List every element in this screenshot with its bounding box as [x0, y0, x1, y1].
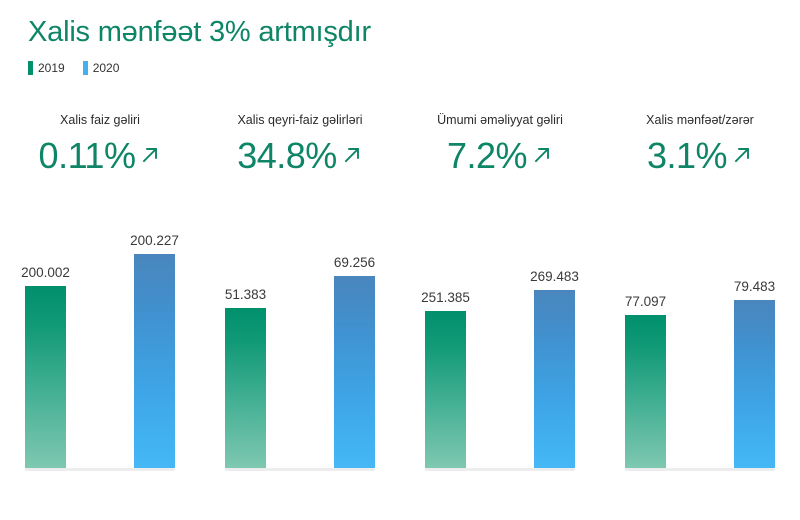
metric-label: Xalis qeyri-faiz gəlirləri: [200, 112, 400, 128]
chart-legend: 2019 2020: [28, 61, 371, 75]
bar-chart: 200.002 200.227 51.383 69.256: [0, 228, 800, 493]
bar-column-2019[interactable]: 251.385: [425, 228, 466, 468]
bar-2019[interactable]: [225, 308, 266, 468]
legend-item-2019[interactable]: 2019: [28, 61, 65, 75]
metric-value-row: 3.1%: [600, 134, 800, 178]
group-baseline: [25, 468, 175, 471]
bar-2020[interactable]: [734, 300, 775, 468]
bar-2019[interactable]: [625, 315, 666, 468]
bar-column-2019[interactable]: 200.002: [25, 228, 66, 468]
bar-group-1: 51.383 69.256: [200, 228, 400, 493]
bar-column-2020[interactable]: 269.483: [534, 228, 575, 468]
bar-2020[interactable]: [134, 254, 175, 468]
legend-swatch-2020: [83, 61, 88, 75]
metric-card-total-operating-income: Ümumi əməliyyat gəliri 7.2%: [400, 112, 600, 178]
metric-label: Xalis mənfəət/zərər: [600, 112, 800, 128]
bar-value-label: 200.227: [130, 233, 179, 249]
legend-item-2020[interactable]: 2020: [83, 61, 120, 75]
group-baseline: [625, 468, 775, 471]
bar-value-label: 200.002: [21, 265, 70, 281]
bar-value-label: 269.483: [530, 269, 579, 285]
bar-value-label: 77.097: [625, 294, 666, 310]
bar-2020[interactable]: [334, 276, 375, 468]
metric-label: Ümumi əməliyyat gəliri: [400, 112, 600, 128]
arrow-up-right-icon: [731, 144, 753, 166]
bar-value-label: 51.383: [225, 287, 266, 303]
metric-label: Xalis faiz gəliri: [0, 112, 200, 128]
bar-group-2: 251.385 269.483: [400, 228, 600, 493]
metric-value: 7.2%: [447, 134, 527, 178]
bar-group-3: 77.097 79.483: [600, 228, 800, 493]
bar-value-label: 69.256: [334, 255, 375, 271]
arrow-up-right-icon: [531, 144, 553, 166]
bar-column-2020[interactable]: 200.227: [134, 228, 175, 468]
bar-2019[interactable]: [25, 286, 66, 468]
arrow-up-right-icon: [341, 144, 363, 166]
metric-card-net-interest-income: Xalis faiz gəliri 0.11%: [0, 112, 200, 178]
bar-value-label: 251.385: [421, 290, 470, 306]
metric-value: 34.8%: [237, 134, 337, 178]
metric-strip: Xalis faiz gəliri 0.11% Xalis qeyri-faiz…: [0, 112, 800, 178]
metric-value: 0.11%: [39, 134, 136, 178]
arrow-up-right-icon: [139, 144, 161, 166]
bar-column-2019[interactable]: 77.097: [625, 228, 666, 468]
metric-value: 3.1%: [647, 134, 727, 178]
legend-label-2020: 2020: [93, 61, 120, 75]
bar-column-2020[interactable]: 69.256: [334, 228, 375, 468]
metric-card-net-profit-loss: Xalis mənfəət/zərər 3.1%: [600, 112, 800, 178]
bar-2020[interactable]: [534, 290, 575, 468]
bar-column-2020[interactable]: 79.483: [734, 228, 775, 468]
group-baseline: [425, 468, 575, 471]
metric-value-row: 34.8%: [200, 134, 400, 178]
metric-value-row: 0.11%: [0, 134, 200, 178]
page-title: Xalis mənfəət 3% artmışdır: [28, 14, 371, 50]
bar-column-2019[interactable]: 51.383: [225, 228, 266, 468]
legend-swatch-2019: [28, 61, 33, 75]
metric-card-non-interest-income: Xalis qeyri-faiz gəlirləri 34.8%: [200, 112, 400, 178]
legend-label-2019: 2019: [38, 61, 65, 75]
chart-header: Xalis mənfəət 3% artmışdır 2019 2020: [28, 14, 371, 75]
group-baseline: [225, 468, 375, 471]
bar-group-0: 200.002 200.227: [0, 228, 200, 493]
bar-2019[interactable]: [425, 311, 466, 468]
metric-value-row: 7.2%: [400, 134, 600, 178]
bar-value-label: 79.483: [734, 279, 775, 295]
